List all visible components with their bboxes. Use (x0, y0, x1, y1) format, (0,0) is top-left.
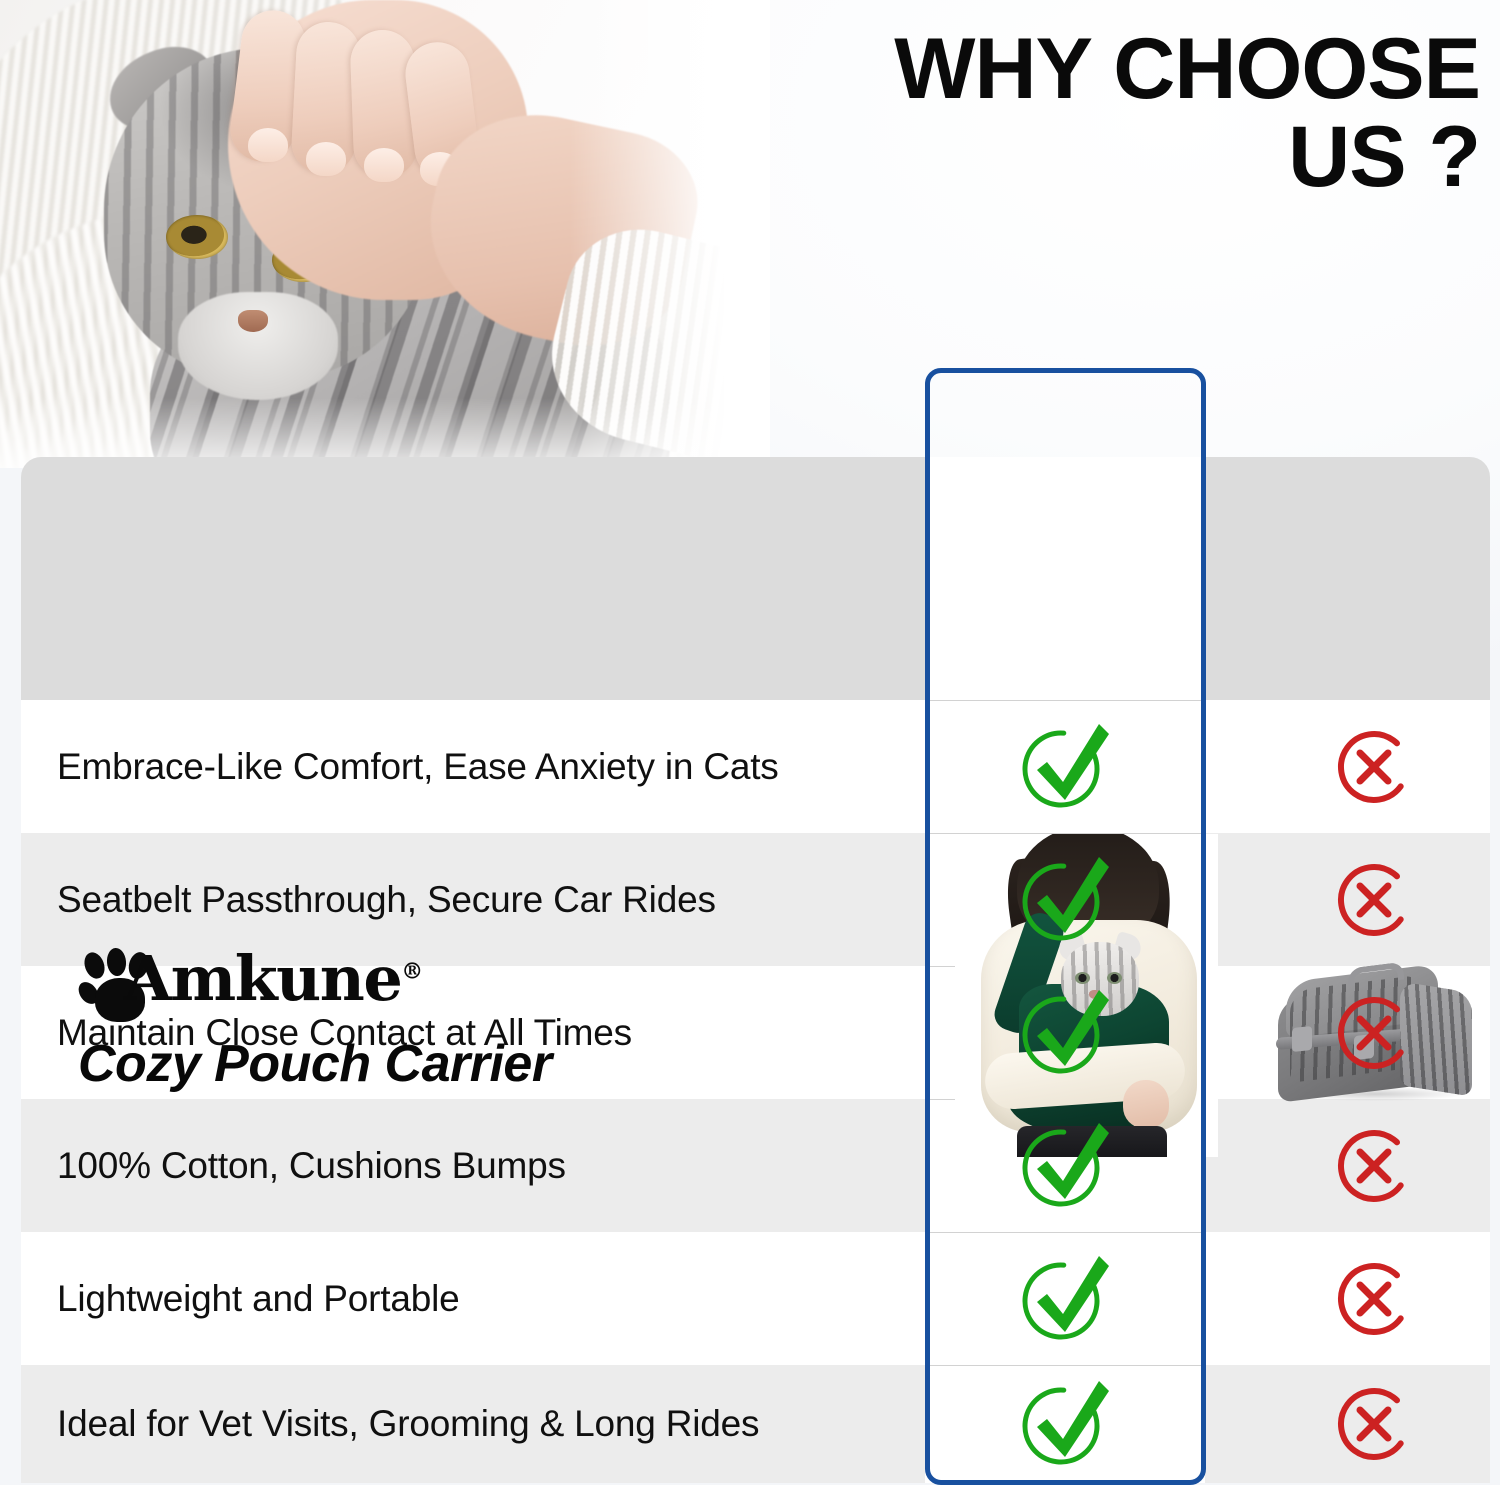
fingernail (306, 142, 346, 176)
feature-label: 100% Cotton, Cushions Bumps (21, 1145, 925, 1187)
cross-icon (1322, 1252, 1426, 1346)
feature-label: Seatbelt Passthrough, Secure Car Rides (21, 879, 925, 921)
check-icon (1013, 853, 1117, 947)
cross-icon (1322, 1377, 1426, 1471)
check-icon (1013, 1119, 1117, 1213)
cat-muzzle (178, 292, 338, 400)
check-icon (1013, 986, 1117, 1080)
feature-label: Embrace-Like Comfort, Ease Anxiety in Ca… (21, 746, 925, 788)
table-row: Ideal for Vet Visits, Grooming & Long Ri… (21, 1365, 1490, 1483)
fingernail (364, 148, 404, 182)
comparison-table: Embrace-Like Comfort, Ease Anxiety in Ca… (21, 457, 1490, 1483)
check-icon (1013, 1377, 1117, 1471)
hero-cat-photo (0, 0, 770, 468)
cross-icon (1322, 986, 1426, 1080)
check-icon (1013, 720, 1117, 814)
fingernail (248, 128, 288, 162)
product-name: Cozy Pouch Carrier (78, 1034, 878, 1094)
cat-eye-left (166, 215, 228, 259)
page-title: WHY CHOOSE US ? (700, 26, 1480, 201)
registered-mark: ® (401, 958, 423, 984)
cross-icon (1322, 720, 1426, 814)
table-row: Lightweight and Portable (21, 1232, 1490, 1365)
brand-name-text: Amkune (124, 942, 401, 1015)
brand-block: Amkune® Cozy Pouch Carrier (78, 944, 878, 1094)
check-icon (1013, 1252, 1117, 1346)
cross-icon (1322, 1119, 1426, 1213)
feature-label: Lightweight and Portable (21, 1278, 925, 1320)
table-header-row (21, 457, 1490, 700)
brand-name: Amkune® (124, 948, 423, 1010)
cat-nose (238, 310, 268, 332)
headline-line-2: US ? (700, 114, 1480, 202)
table-row: 100% Cotton, Cushions Bumps (21, 1099, 1490, 1232)
table-row: Embrace-Like Comfort, Ease Anxiety in Ca… (21, 700, 1490, 833)
feature-label: Ideal for Vet Visits, Grooming & Long Ri… (21, 1403, 925, 1445)
cross-icon (1322, 853, 1426, 947)
headline-line-1: WHY CHOOSE (894, 21, 1480, 117)
